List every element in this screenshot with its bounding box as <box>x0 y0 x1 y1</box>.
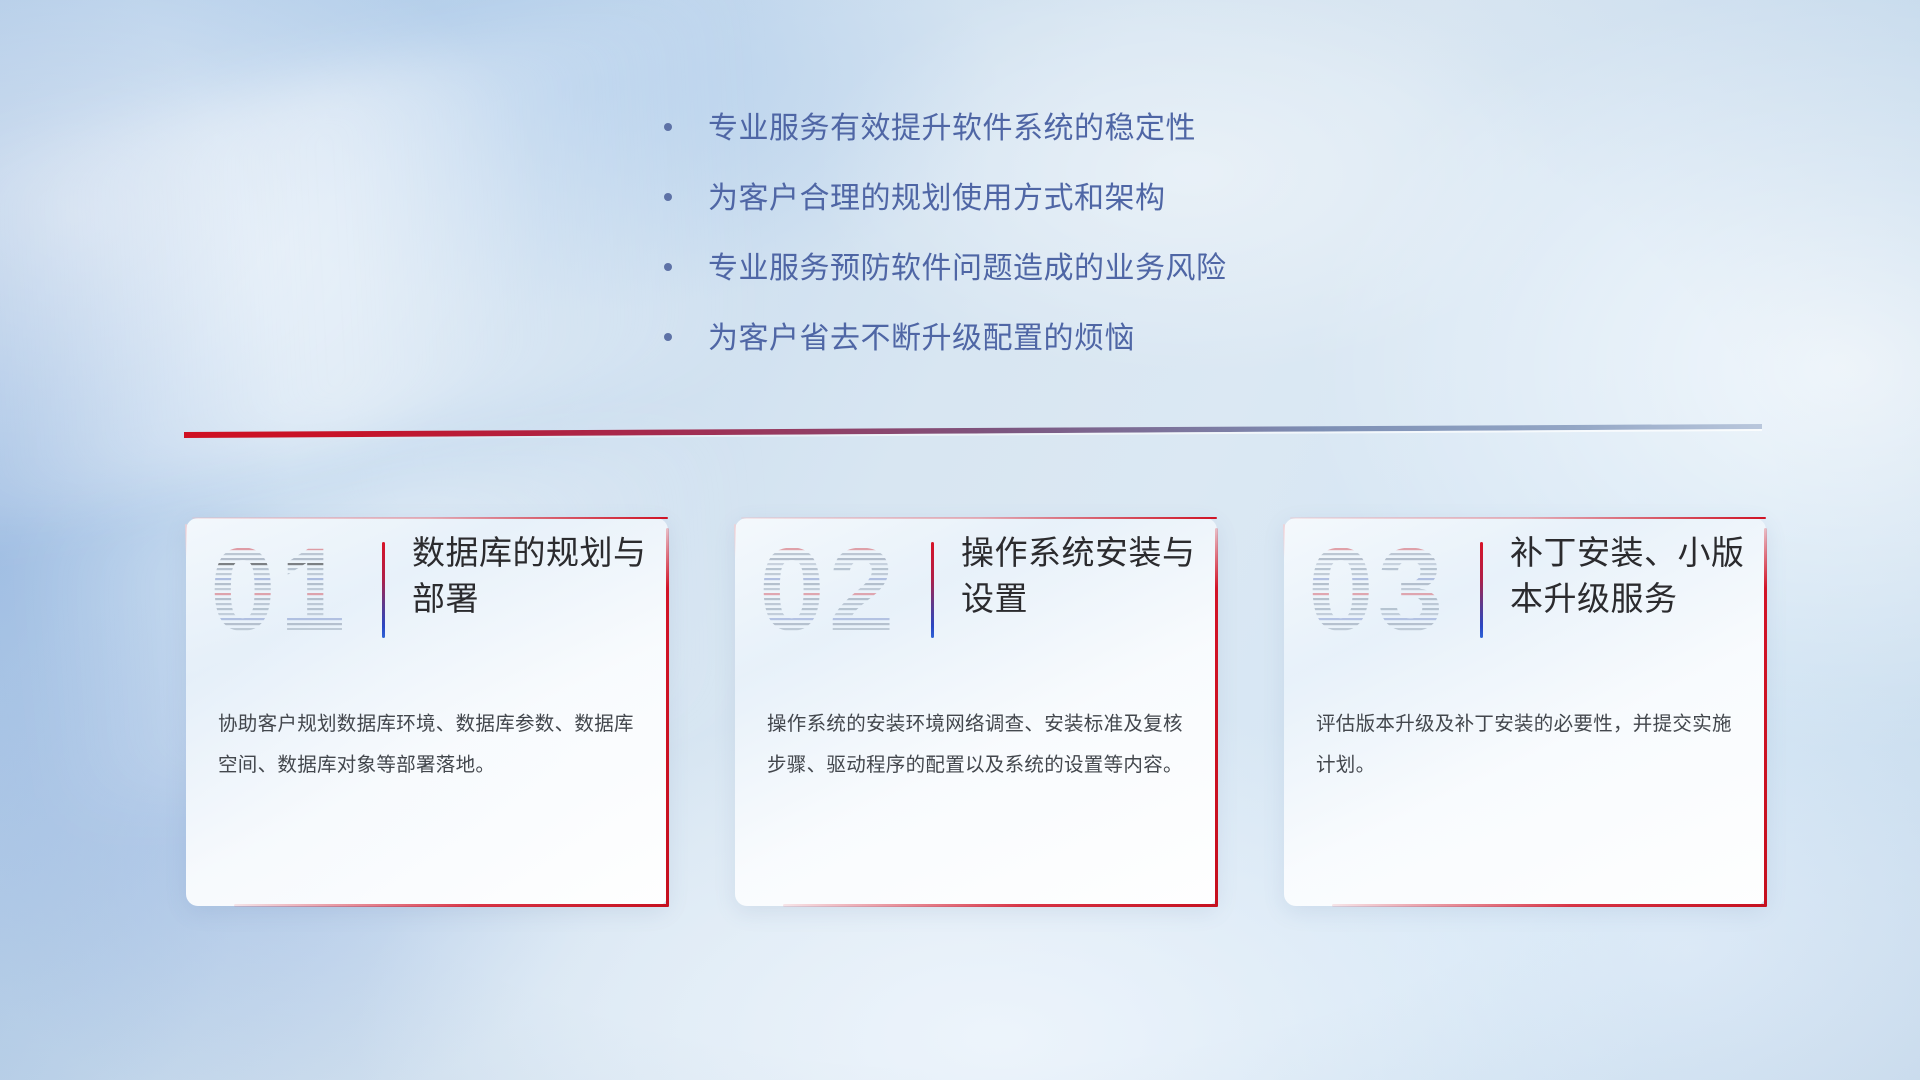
bullet-text: 专业服务有效提升软件系统的稳定性 <box>708 112 1196 145</box>
card-header: 01 <box>186 518 668 668</box>
service-card[interactable]: 01 <box>186 518 668 906</box>
card-body-text: 评估版本升级及补丁安装的必要性，并提交实施计划。 <box>1316 704 1740 786</box>
card-header: 02 <box>735 518 1217 668</box>
card-title: 操作系统安装与设置 <box>961 530 1197 621</box>
section-divider <box>184 424 1762 446</box>
card-title: 数据库的规划与部署 <box>412 530 648 621</box>
bullet-text: 为客户省去不断升级配置的烦恼 <box>708 322 1135 355</box>
bullet-item: 专业服务有效提升软件系统的稳定性 <box>664 112 1424 145</box>
card-header: 03 <box>1284 518 1766 668</box>
bullet-item: 专业服务预防软件问题造成的业务风险 <box>664 252 1424 285</box>
bullet-text: 为客户合理的规划使用方式和架构 <box>708 182 1166 215</box>
bullet-item: 为客户省去不断升级配置的烦恼 <box>664 322 1424 355</box>
card-body-text: 操作系统的安装环境网络调查、安装标准及复核步骤、驱动程序的配置以及系统的设置等内… <box>767 704 1191 786</box>
bullet-dot-icon <box>664 263 672 271</box>
card-accent-bar <box>382 542 385 638</box>
card-accent-bar <box>931 542 934 638</box>
card-body-text: 协助客户规划数据库环境、数据库参数、数据库空间、数据库对象等部署落地。 <box>218 704 642 786</box>
bullet-dot-icon <box>664 193 672 201</box>
bullet-dot-icon <box>664 123 672 131</box>
service-card-group: 01 <box>186 518 1766 928</box>
card-number-glyph-01: 01 <box>210 538 360 650</box>
card-bottom-accent <box>234 904 669 907</box>
benefits-bullet-list: 专业服务有效提升软件系统的稳定性 为客户合理的规划使用方式和架构 专业服务预防软… <box>664 112 1424 392</box>
service-card[interactable]: 03 <box>1284 518 1766 906</box>
bullet-dot-icon <box>664 333 672 341</box>
card-bottom-accent <box>783 904 1218 907</box>
bullet-item: 为客户合理的规划使用方式和架构 <box>664 182 1424 215</box>
bullet-text: 专业服务预防软件问题造成的业务风险 <box>708 252 1227 285</box>
card-title: 补丁安装、小版本升级服务 <box>1510 530 1746 621</box>
service-card[interactable]: 02 <box>735 518 1217 906</box>
card-number-glyph-02: 02 <box>759 538 909 650</box>
card-bottom-accent <box>1332 904 1767 907</box>
card-accent-bar <box>1480 542 1483 638</box>
card-number-glyph-03: 03 <box>1308 538 1458 650</box>
